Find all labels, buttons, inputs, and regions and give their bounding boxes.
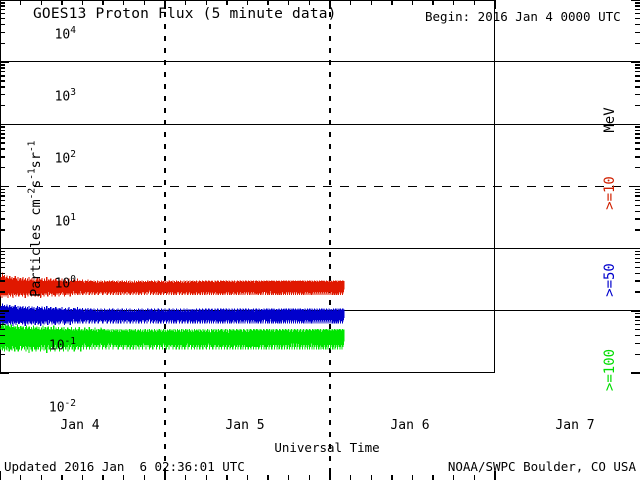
x-axis-title-text: Universal Time xyxy=(274,440,379,455)
x-tick-label: Jan 4 xyxy=(60,418,99,433)
x-tick-label: Jan 5 xyxy=(225,418,264,433)
y-axis-exp-3: -1 xyxy=(26,141,37,152)
y-axis-title-s: s xyxy=(28,180,44,188)
x-tick-label: Jan 7 xyxy=(555,418,594,433)
footer-updated-timestamp: Updated 2016 Jan 6 02:36:01 UTC xyxy=(4,459,245,474)
x-axis-tick-labels: Jan 4Jan 5Jan 6Jan 7 xyxy=(0,0,640,480)
legend-proton-50-mev: >=50 xyxy=(602,235,618,325)
x-tick-label: Jan 6 xyxy=(390,418,429,433)
footer-source-agency: NOAA/SWPC Boulder, CO USA xyxy=(448,459,636,474)
y-axis-title: Particles cm-2s-1sr-1 xyxy=(26,99,44,339)
x-axis-title: Universal Time xyxy=(0,440,640,455)
legend-proton-100-mev: >=100 xyxy=(602,325,618,415)
y-axis-title-sr: sr xyxy=(28,152,44,168)
legend-proton-10-mev: >=10 xyxy=(602,148,618,238)
y-axis-title-text: Particles cm xyxy=(28,199,44,297)
y-axis-exp-1: -2 xyxy=(26,188,37,199)
y-axis-exp-2: -1 xyxy=(26,168,37,179)
